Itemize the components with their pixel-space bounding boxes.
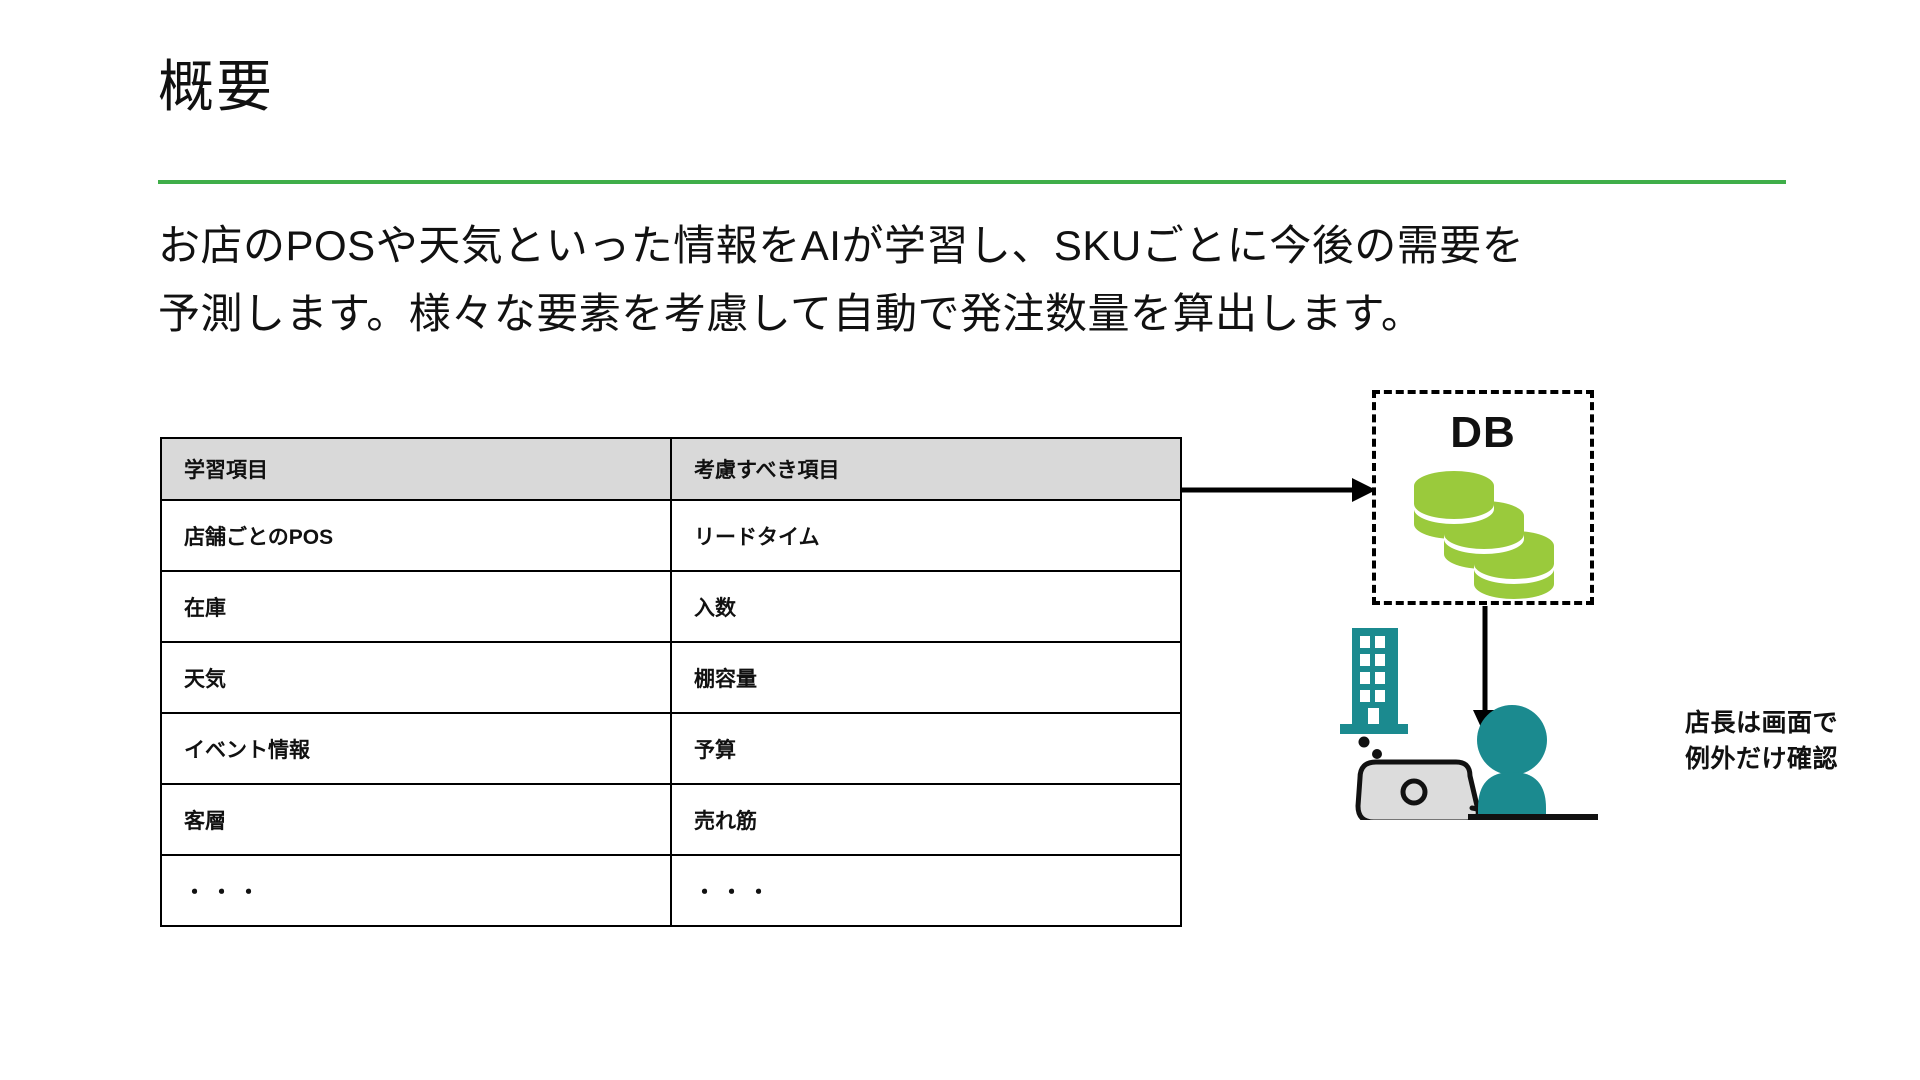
title-divider	[158, 180, 1786, 184]
person-icon	[1477, 705, 1547, 818]
page-title: 概要	[158, 56, 274, 118]
table-header-row: 学習項目 考慮すべき項目	[161, 438, 1181, 500]
body-line-2: 予測します。様々な要素を考慮して自動で発注数量を算出します。	[158, 280, 1758, 348]
flow-diagram: DB	[1180, 370, 1900, 1010]
body-line-1: お店のPOSや天気といった情報をAIが学習し、SKUごとに今後の需要を	[158, 212, 1758, 280]
table-cell-consider: 売れ筋	[671, 784, 1181, 855]
table-row: 客層 売れ筋	[161, 784, 1181, 855]
database-icon	[1408, 468, 1558, 604]
table-header-cell-learning: 学習項目	[161, 438, 671, 500]
table-row: 店舗ごとのPOS リードタイム	[161, 500, 1181, 571]
table-cell-learning: 天気	[161, 642, 671, 713]
table-cell-consider: 予算	[671, 713, 1181, 784]
table-row: 天気 棚容量	[161, 642, 1181, 713]
caption-line-2: 例外だけ確認	[1685, 741, 1838, 777]
table-row: ・・・ ・・・	[161, 855, 1181, 926]
table-row: イベント情報 予算	[161, 713, 1181, 784]
table-cell-consider: 棚容量	[671, 642, 1181, 713]
table-cell-learning: 在庫	[161, 571, 671, 642]
caption-line-1: 店長は画面で	[1685, 705, 1838, 741]
table-cell-consider: リードタイム	[671, 500, 1181, 571]
learning-items-table: 学習項目 考慮すべき項目 店舗ごとのPOS リードタイム 在庫 入数 天気 棚容…	[160, 437, 1182, 927]
table-to-db-arrow	[1180, 470, 1380, 510]
slide-canvas: 概要 お店のPOSや天気といった情報をAIが学習し、SKUごとに今後の需要を 予…	[0, 0, 1920, 1080]
laptop-icon	[1358, 762, 1486, 820]
table-cell-consider-ellipsis: ・・・	[671, 855, 1181, 926]
table-cell-consider: 入数	[671, 571, 1181, 642]
table-cell-learning: 店舗ごとのPOS	[161, 500, 671, 571]
table-header-cell-consider: 考慮すべき項目	[671, 438, 1181, 500]
store-caption: 店長は画面で 例外だけ確認	[1685, 705, 1838, 778]
db-label: DB	[1376, 408, 1590, 458]
table-row: 在庫 入数	[161, 571, 1181, 642]
table-cell-learning-ellipsis: ・・・	[161, 855, 671, 926]
body-paragraph: お店のPOSや天気といった情報をAIが学習し、SKUごとに今後の需要を 予測しま…	[158, 212, 1758, 348]
store-scene-illustration	[1330, 620, 1630, 820]
table-cell-learning: 客層	[161, 784, 671, 855]
db-container: DB	[1372, 390, 1594, 605]
table-cell-learning: イベント情報	[161, 713, 671, 784]
